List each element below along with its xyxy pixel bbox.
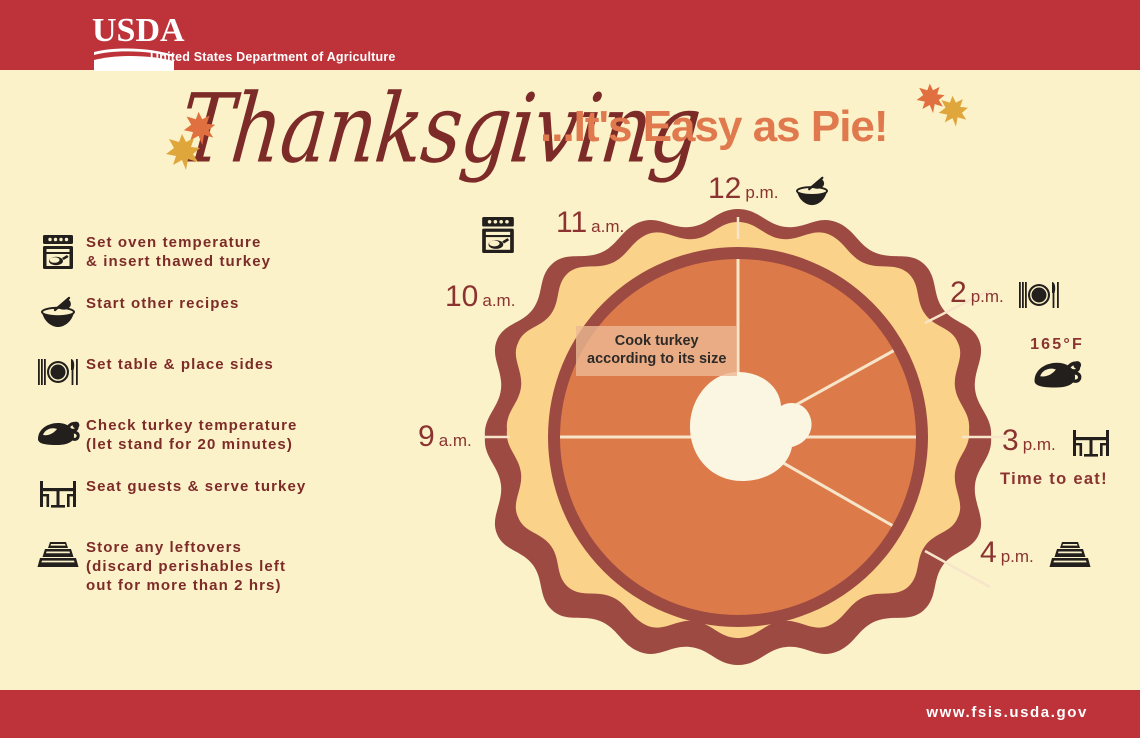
clock-meridiem: p.m.: [745, 183, 778, 202]
temperature-value: 165°F: [1030, 336, 1084, 354]
pie-graphic: [470, 195, 1010, 665]
dining-table-icon: [30, 476, 86, 510]
footer-band: www.fsis.usda.gov: [0, 690, 1140, 738]
clock-label-4pm: 4p.m.: [980, 536, 1094, 576]
storage-containers-icon: [30, 537, 86, 571]
usda-logo: USDA: [46, 8, 132, 64]
clock-label-10am: 10a.m.: [445, 280, 515, 314]
list-item: Set oven temperature & insert thawed tur…: [30, 232, 410, 276]
clock-meridiem: p.m.: [1023, 435, 1056, 454]
infographic-page: USDA United States Department of Agricul…: [0, 0, 1140, 738]
clock-meridiem: p.m.: [1001, 547, 1034, 566]
clock-number: 3: [1002, 424, 1019, 457]
list-item-label: Set oven temperature & insert thawed tur…: [86, 232, 410, 271]
legend-list: Set oven temperature & insert thawed tur…: [30, 232, 410, 613]
clock-number: 9: [418, 420, 435, 453]
cook-turkey-callout: Cook turkey according to its size: [576, 326, 737, 376]
clock-meridiem: a.m.: [482, 291, 515, 310]
mixing-bowl-whisk-icon: [791, 175, 833, 212]
list-item-label: Start other recipes: [86, 293, 410, 313]
clock-label-2pm: 2p.m.: [950, 276, 1062, 316]
time-to-eat-note: Time to eat!: [1000, 470, 1108, 489]
oven-icon: [480, 216, 516, 258]
list-item-label: Check turkey temperature (let stand for …: [86, 415, 410, 454]
maple-leaves-icon: [162, 108, 236, 174]
clock-number: 11: [556, 206, 587, 239]
clock-number: 2: [950, 276, 967, 309]
clock-label-9am: 9a.m.: [418, 420, 472, 454]
list-item: Set table & place sides: [30, 354, 410, 398]
list-item: Check turkey temperature (let stand for …: [30, 415, 410, 459]
usda-full-name-text: United States Department of Agriculture: [150, 50, 396, 64]
clock-label-12pm: 12p.m.: [708, 172, 833, 212]
list-item-label: Set table & place sides: [86, 354, 410, 374]
maple-leaves-icon: [915, 82, 979, 134]
footer-url-link[interactable]: www.fsis.usda.gov: [926, 704, 1088, 721]
clock-number: 12: [708, 172, 741, 205]
pie-clock-chart: Cook turkey according to its size: [470, 195, 1010, 665]
list-item: Start other recipes: [30, 293, 410, 337]
mixing-bowl-whisk-icon: [30, 293, 86, 329]
clock-meridiem: p.m.: [971, 287, 1004, 306]
title-bold-text: ...It's Easy as Pie!: [540, 102, 888, 152]
list-item: Store any leftovers (discard perishables…: [30, 537, 410, 596]
roast-turkey-icon: [30, 415, 86, 449]
place-setting-icon: [30, 354, 86, 388]
clock-number: 10: [445, 280, 478, 313]
list-item-label: Store any leftovers (discard perishables…: [86, 537, 410, 596]
header-band: USDA United States Department of Agricul…: [0, 0, 1140, 70]
clock-number: 4: [980, 536, 997, 569]
clock-label-11am: 11a.m.: [556, 206, 624, 240]
oven-icon: [30, 232, 86, 270]
clock-label-3pm: 3p.m.: [1002, 424, 1114, 464]
clock-meridiem: a.m.: [591, 217, 624, 236]
list-item: Seat guests & serve turkey: [30, 476, 410, 520]
temperature-group: 165°F: [1030, 336, 1084, 396]
roast-turkey-icon: [1030, 377, 1084, 396]
storage-containers-icon: [1046, 539, 1094, 576]
dining-table-icon: [1068, 427, 1114, 464]
list-item-label: Seat guests & serve turkey: [86, 476, 410, 496]
usda-wordmark-text: USDA: [92, 14, 185, 48]
clock-meridiem: a.m.: [439, 431, 472, 450]
place-setting-icon: [1016, 279, 1062, 316]
